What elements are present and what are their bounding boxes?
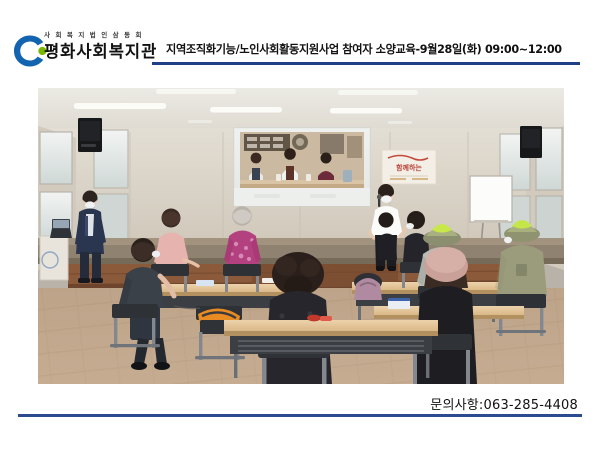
contact-info: 문의사항:063-285-4408	[430, 394, 578, 413]
organization-name: 평화사회복지관	[44, 41, 164, 62]
page-title: 지역조직화기능/노인사회활동지원사업 참여자 소양교육-9월28일(화) 09:…	[166, 41, 562, 57]
small-red-item	[307, 315, 321, 322]
page-header: 사 회 복 지 법 인 삼 동 회 평화사회복지관 지역조직화기능/노인사회활동…	[0, 0, 600, 80]
folder-blue	[388, 300, 410, 309]
organization-sub-name: 사 회 복 지 법 인 삼 동 회	[44, 30, 164, 40]
event-photo: 함께하는	[38, 88, 564, 384]
projection-screen	[234, 128, 370, 206]
svg-text:함께하는: 함께하는	[396, 163, 422, 172]
organization-logo: 사 회 복 지 법 인 삼 동 회 평화사회복지관	[8, 30, 158, 74]
paper-left	[196, 280, 214, 286]
projected-video	[240, 132, 364, 188]
organization-logo-text: 사 회 복 지 법 인 삼 동 회 평화사회복지관	[44, 30, 164, 62]
header-divider	[152, 62, 580, 65]
floor-backpack	[354, 273, 382, 300]
footer-divider	[18, 414, 582, 417]
event-banner: 함께하는	[382, 150, 436, 184]
